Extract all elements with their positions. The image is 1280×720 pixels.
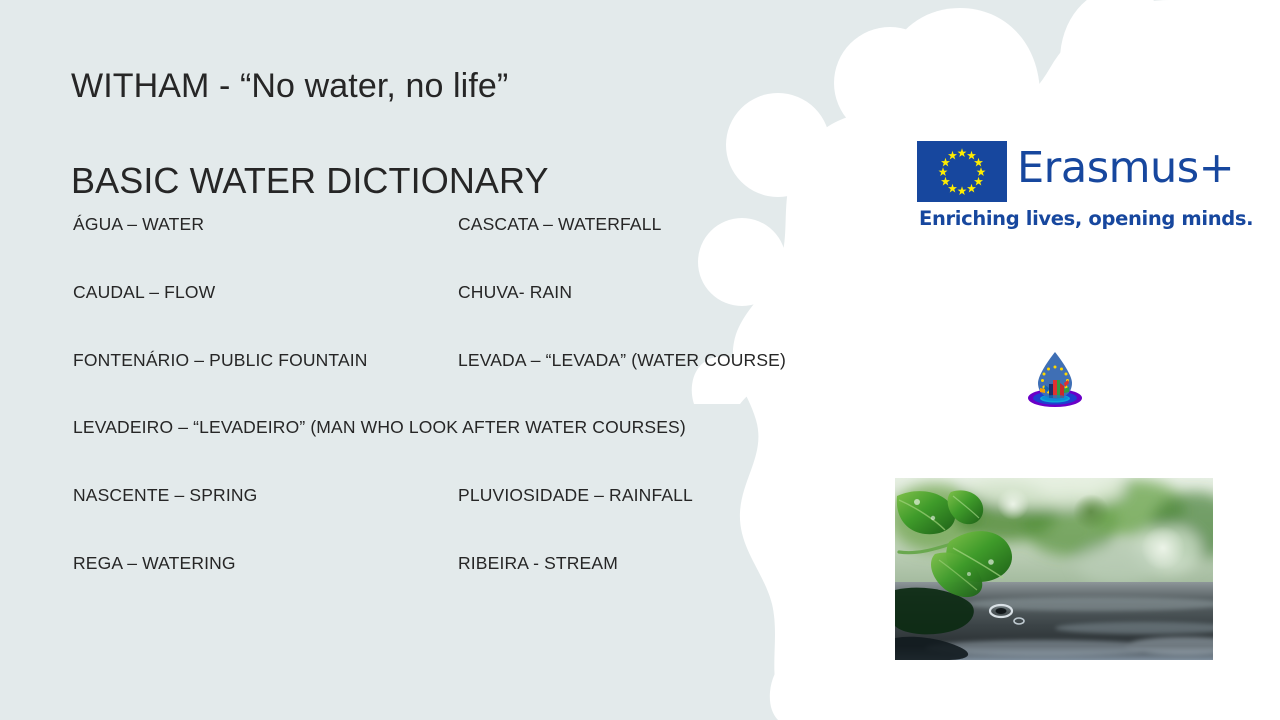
water-droplet-icon (1024, 347, 1086, 409)
erasmus-tagline: Enriching lives, opening minds. (919, 207, 1253, 230)
dictionary-entry: LEVADA – “LEVADA” (WATER COURSE) (458, 350, 786, 371)
water-leaves-photo (895, 478, 1213, 660)
page-title: WITHAM - “No water, no life” (71, 67, 508, 106)
bubble-medium (967, 59, 1013, 105)
bubble-oval-top (1060, 0, 1180, 132)
bubble-small-lower (698, 218, 786, 306)
bubble-small-left (726, 93, 830, 197)
dictionary-entry: CAUDAL – FLOW (73, 282, 215, 303)
erasmus-wordmark: Erasmus+ (1017, 147, 1234, 190)
dictionary-entry-fullwidth: LEVADEIRO – “LEVADEIRO” (MAN WHO LOOK AF… (73, 417, 686, 438)
dictionary-entry: RIBEIRA - STREAM (458, 553, 618, 574)
blob-bottom-extension (770, 640, 900, 720)
dictionary-entry: ÁGUA – WATER (73, 214, 204, 235)
eu-flag-icon (917, 141, 1007, 202)
slide-canvas: WITHAM - “No water, no life” BASIC WATER… (0, 0, 1280, 720)
dictionary-entry: CHUVA- RAIN (458, 282, 572, 303)
erasmus-plus-logo: Erasmus+ Enriching lives, opening minds. (917, 141, 1195, 233)
section-heading: BASIC WATER DICTIONARY (71, 160, 549, 202)
dictionary-entry: REGA – WATERING (73, 553, 236, 574)
bubble-large (834, 27, 946, 139)
dictionary-entry: FONTENÁRIO – PUBLIC FOUNTAIN (73, 350, 368, 371)
dictionary-entry: CASCATA – WATERFALL (458, 214, 662, 235)
dictionary-entry: PLUVIOSIDADE – RAINFALL (458, 485, 693, 506)
dictionary-entry: NASCENTE – SPRING (73, 485, 257, 506)
